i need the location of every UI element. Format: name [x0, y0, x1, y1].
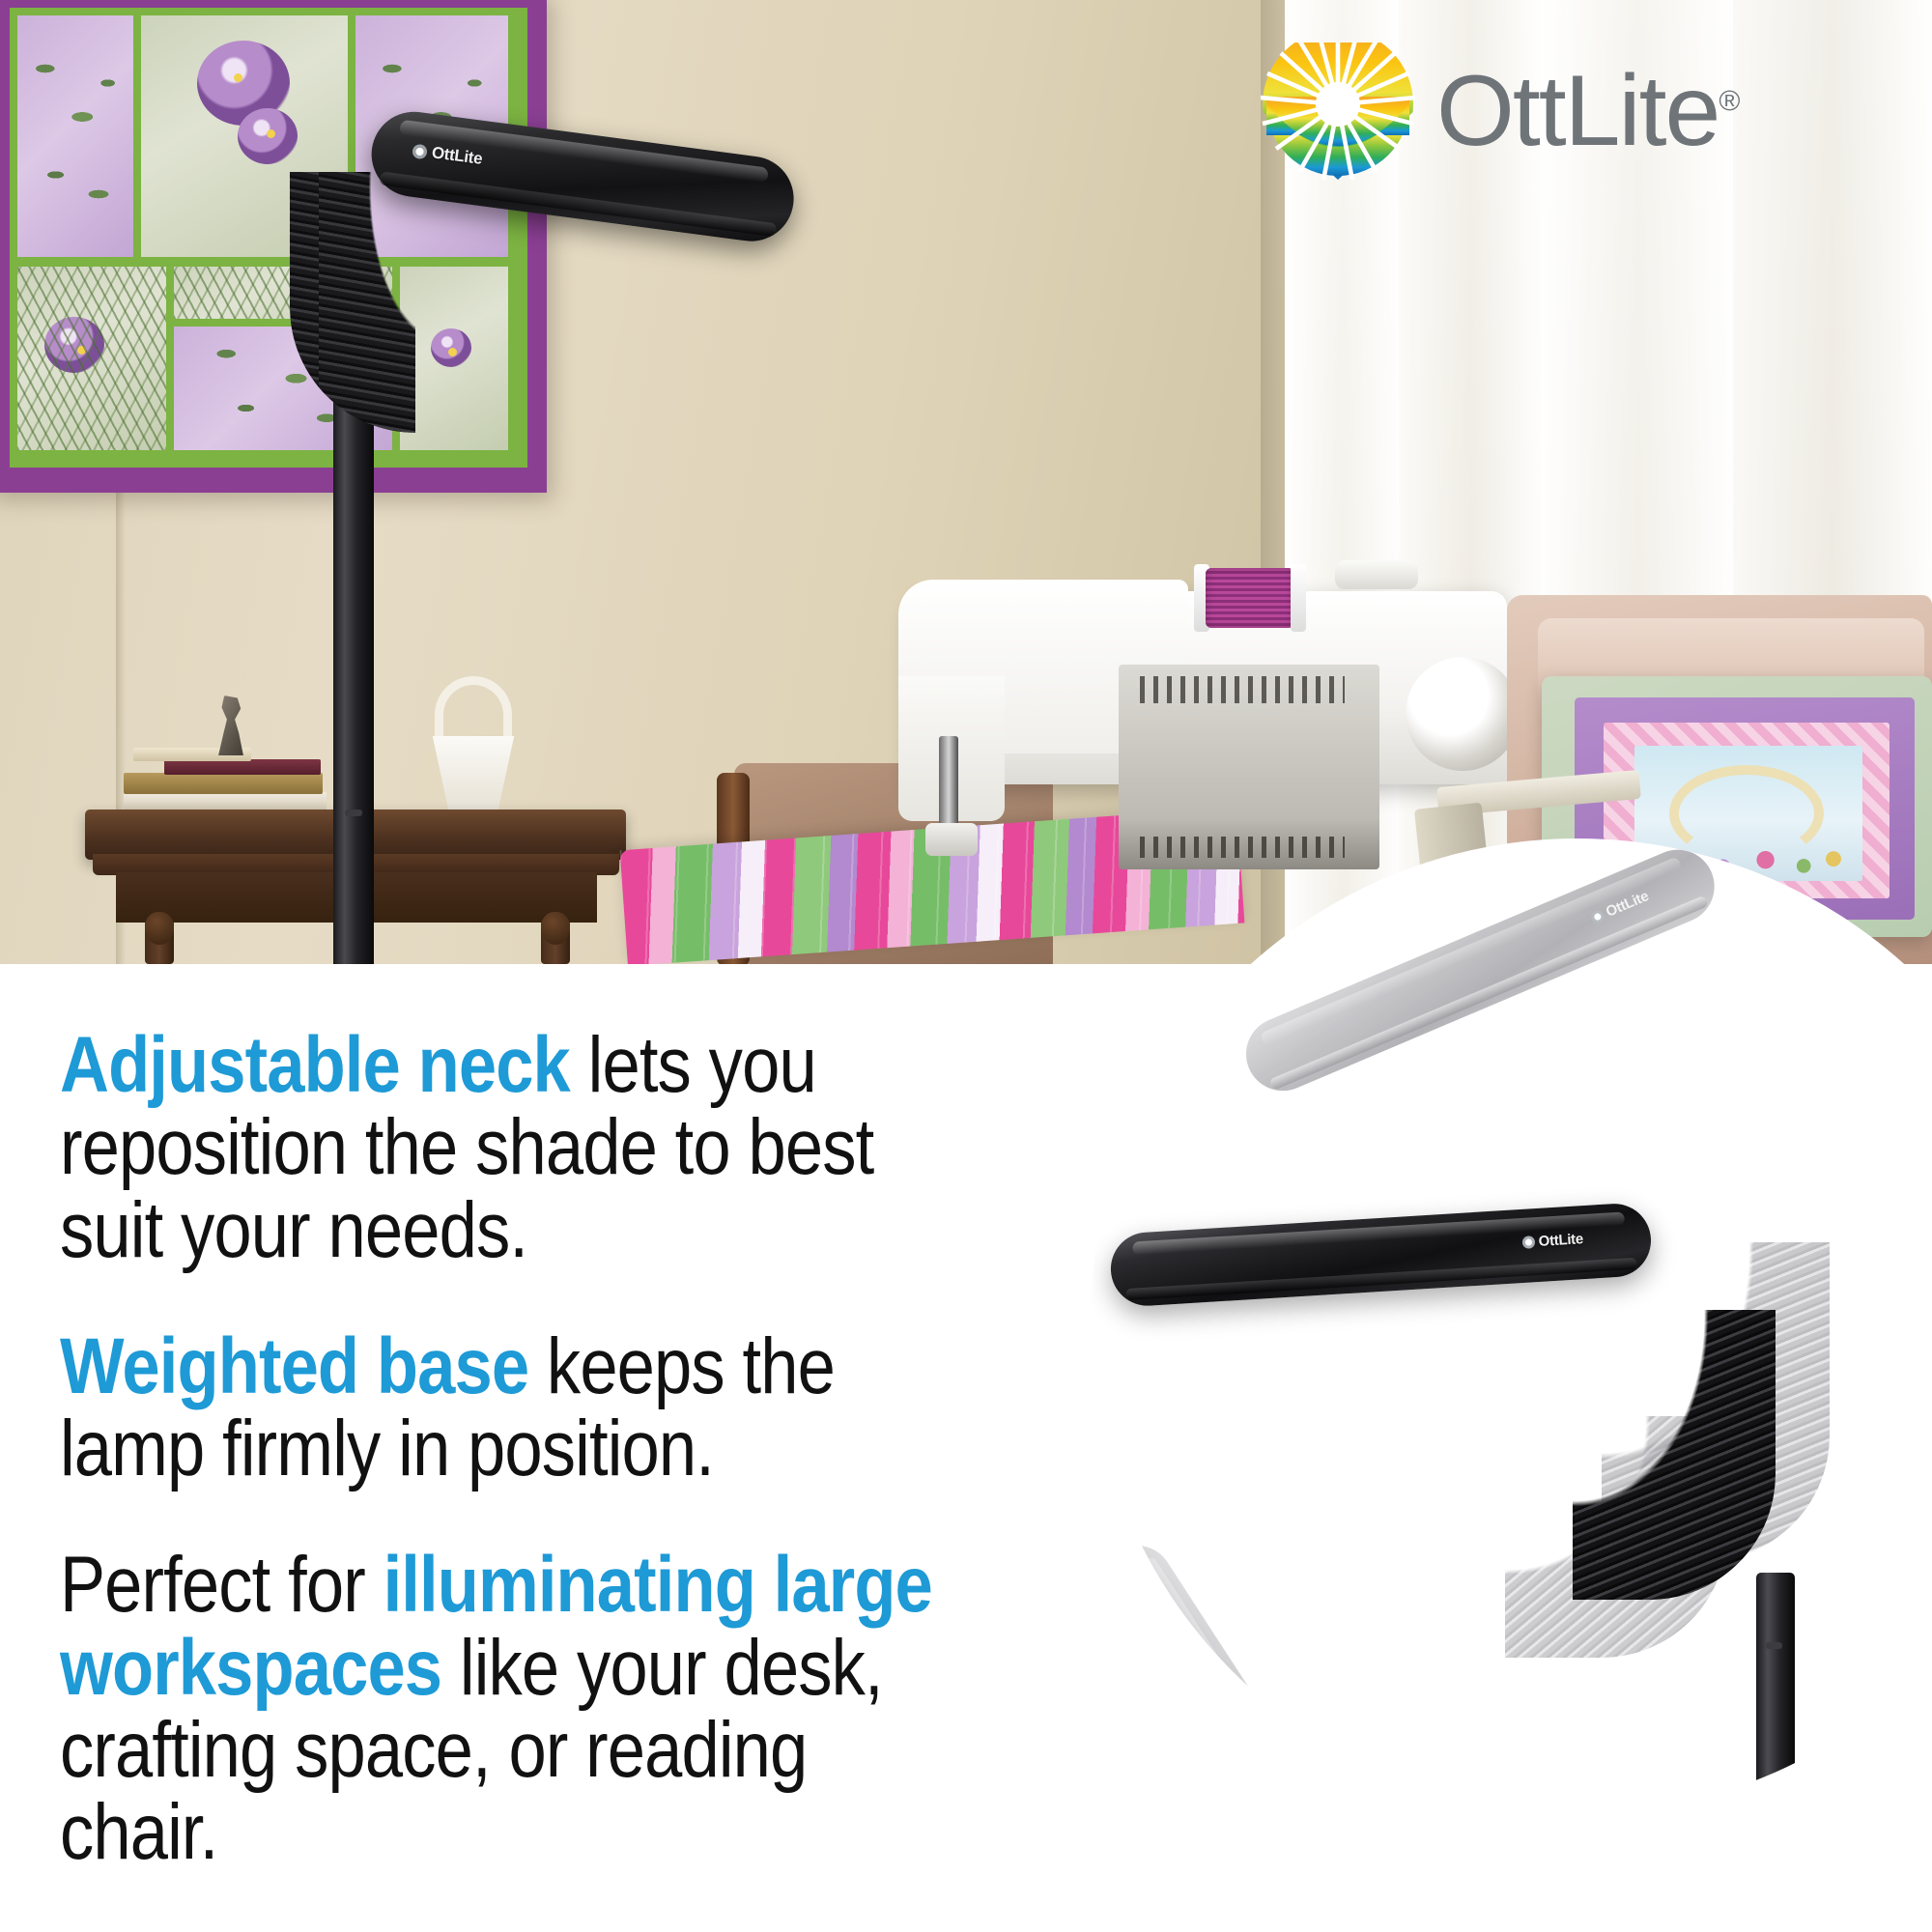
feature-3-lead: Perfect for [60, 1541, 384, 1629]
sunburst-icon [1261, 43, 1415, 180]
quilt-flower-center [234, 73, 242, 82]
sewing-machine-presser-foot [925, 823, 978, 856]
side-table-finial [145, 912, 174, 945]
product-feature-page: OttLite [0, 0, 1932, 1932]
feature-item-1: Adjustable neck lets you reposition the … [60, 1024, 941, 1271]
sunburst-icon [412, 143, 428, 159]
sewing-machine-vents [1140, 837, 1345, 858]
sewing-machine-needle-bar [939, 736, 958, 829]
quilt-block [400, 267, 508, 450]
quilt-block [17, 267, 166, 450]
book [124, 773, 323, 794]
ceramic-basket-handle [435, 676, 512, 744]
gooseneck-active [1573, 1310, 1776, 1600]
sunburst-icon [1521, 1236, 1535, 1249]
shade-position-angled-down: OttLite [1090, 1531, 1410, 1814]
sewing-machine-handwheel [1406, 657, 1520, 771]
shade-brand-logo: OttLite [1521, 1231, 1583, 1251]
stacked-books [124, 746, 331, 813]
quilt-sashing [10, 8, 527, 468]
lamp-pole [333, 382, 374, 964]
quilt-wall-hanging [0, 0, 547, 493]
sewing-machine-thread-guide [1335, 560, 1418, 589]
brand-name: OttLite [1436, 55, 1719, 167]
feature-item-2: Weighted base keeps the lamp firmly in p… [60, 1325, 941, 1491]
brand-wordmark: OttLite® [1436, 61, 1740, 161]
feature-item-3: Perfect for illuminating large workspace… [60, 1544, 941, 1873]
adjustable-neck-inset: OttLite OttLite OttLite [1090, 838, 1932, 1814]
feature-2-highlight: Weighted base [60, 1322, 528, 1410]
quilt-flower-center [448, 348, 457, 356]
spool-cap [1291, 564, 1306, 632]
side-table-finial [541, 912, 570, 945]
brand-logo: OttLite® [1261, 39, 1874, 184]
quilt-block [17, 15, 133, 257]
registered-trademark-icon: ® [1719, 85, 1740, 117]
shade-lip [1125, 1258, 1637, 1300]
quilt-flower-center [77, 346, 86, 355]
shade-brand-label: OttLite [1538, 1231, 1583, 1250]
quilt-flower-center [267, 129, 275, 138]
lamp-pole [1756, 1573, 1795, 1814]
sewing-machine-vents [1140, 676, 1345, 703]
shade-lip [1268, 895, 1709, 1092]
shade-brand-label: OttLite [431, 143, 484, 169]
sunburst-icon [1589, 909, 1605, 925]
lamp-pole-seam [345, 810, 362, 816]
thread-spool [1206, 568, 1294, 628]
feature-copy-block: Adjustable neck lets you reposition the … [60, 1024, 1084, 1927]
shade-position-horizontal-active: OttLite [1109, 1202, 1654, 1308]
book [164, 759, 321, 775]
quilt-floral-motif [44, 317, 104, 373]
feature-1-highlight: Adjustable neck [60, 1021, 570, 1109]
lamp-pole-seam [1766, 1642, 1782, 1649]
shade-brand-logo: OttLite [412, 141, 484, 169]
